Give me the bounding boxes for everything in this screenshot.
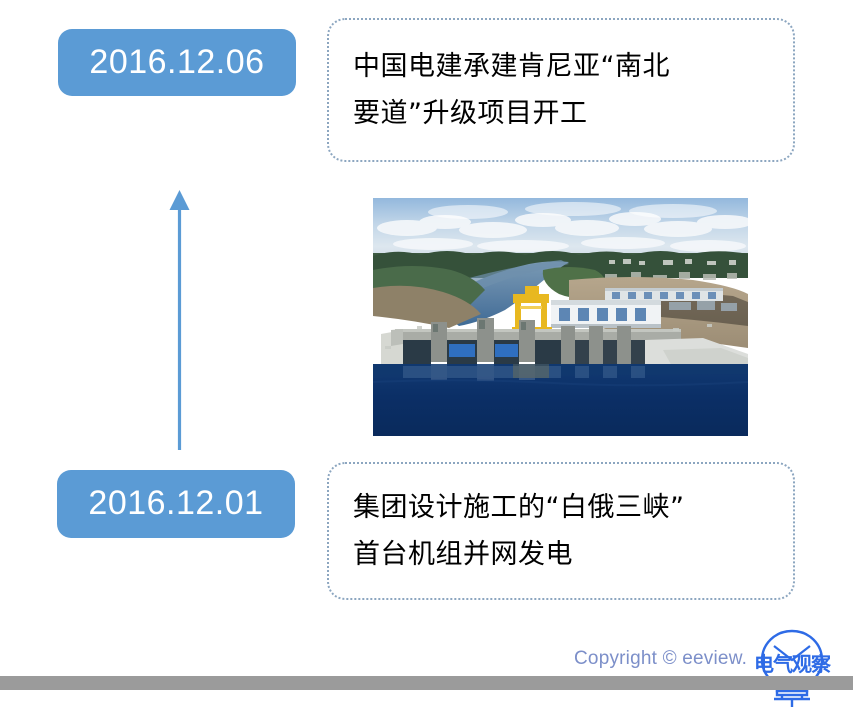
headline-line: 首台机组并网发电 <box>353 531 771 578</box>
date-badge-label: 2016.12.06 <box>89 45 264 79</box>
slide-canvas: 2016.12.06 中国电建承建肯尼亚“南北 要道”升级项目开工 <box>0 0 853 710</box>
copyright-text: Copyright © eeview. <box>574 648 747 670</box>
headline-callout-bottom[interactable]: 集团设计施工的“白俄三峡” 首台机组并网发电 <box>327 462 795 600</box>
hydroelectric-dam-aerial-photo <box>373 198 748 436</box>
upward-timeline-arrow-icon <box>160 188 200 450</box>
footer-divider-bar <box>0 676 853 690</box>
headline-callout-top[interactable]: 中国电建承建肯尼亚“南北 要道”升级项目开工 <box>327 18 795 162</box>
date-badge-2016-12-01[interactable]: 2016.12.01 <box>57 470 295 538</box>
date-badge-label: 2016.12.01 <box>88 486 263 520</box>
headline-line: 集团设计施工的“白俄三峡” <box>353 484 771 531</box>
headline-line: 中国电建承建肯尼亚“南北 <box>353 43 771 90</box>
date-badge-2016-12-06[interactable]: 2016.12.06 <box>58 29 296 96</box>
headline-line: 要道”升级项目开工 <box>353 90 771 137</box>
logo-wordmark: 电气观察 <box>746 648 838 677</box>
